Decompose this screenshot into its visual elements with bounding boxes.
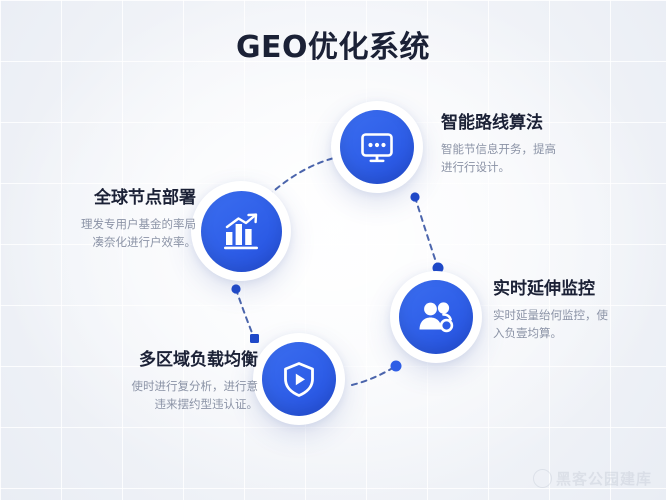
users-icon — [415, 296, 457, 338]
node-route-disc — [340, 110, 414, 184]
monitor-icon — [357, 127, 397, 167]
node-balance[interactable] — [253, 333, 345, 425]
monitor-body-line-2: 入负壹均算。 — [493, 325, 663, 343]
text-block-route: 智能路线算法 智能节信息开务，提高 进行行设计。 — [441, 113, 641, 177]
global-body-line-1: 理发专用户基金的率局 — [24, 216, 196, 234]
node-global-disc — [201, 191, 282, 272]
shield-play-icon — [279, 359, 319, 399]
monitor-body-line-1: 实时延量绐何监控，使 — [493, 307, 663, 325]
bar-chart-growth-icon — [218, 208, 264, 254]
node-monitor-disc — [399, 280, 473, 354]
watermark-text: 黑客公园建库 — [556, 468, 652, 489]
monitor-title: 实时延伸监控 — [493, 279, 663, 300]
node-monitor[interactable] — [390, 271, 482, 363]
watermark: 黑客公园建库 — [533, 468, 652, 489]
global-body-line-2: 凑奈化进行户效率。 — [24, 234, 196, 252]
global-body: 理发专用户基金的率局 凑奈化进行户效率。 — [24, 216, 196, 252]
text-block-balance: 多区域负载均衡 使时进行复分析，进行意 违来摆约型违认证。 — [66, 350, 258, 414]
node-route[interactable] — [331, 101, 423, 193]
monitor-body: 实时延量绐何监控，使 入负壹均算。 — [493, 307, 663, 343]
route-title: 智能路线算法 — [441, 113, 641, 134]
route-body-line-1: 智能节信息开务，提高 — [441, 141, 641, 159]
route-body-line-2: 进行行设计。 — [441, 159, 641, 177]
balance-body: 使时进行复分析，进行意 违来摆约型违认证。 — [66, 378, 258, 414]
text-block-monitor: 实时延伸监控 实时延量绐何监控，使 入负壹均算。 — [493, 279, 663, 343]
balance-title: 多区域负载均衡 — [66, 350, 258, 371]
node-global[interactable] — [191, 181, 291, 281]
baidu-logo-icon — [533, 469, 552, 488]
route-body: 智能节信息开务，提高 进行行设计。 — [441, 141, 641, 177]
balance-body-line-2: 违来摆约型违认证。 — [66, 396, 258, 414]
global-title: 全球节点部署 — [24, 188, 196, 209]
balance-body-line-1: 使时进行复分析，进行意 — [66, 378, 258, 396]
infographic-canvas: GEO优化系统 — [0, 0, 666, 500]
node-balance-disc — [262, 342, 336, 416]
text-block-global: 全球节点部署 理发专用户基金的率局 凑奈化进行户效率。 — [24, 188, 196, 252]
